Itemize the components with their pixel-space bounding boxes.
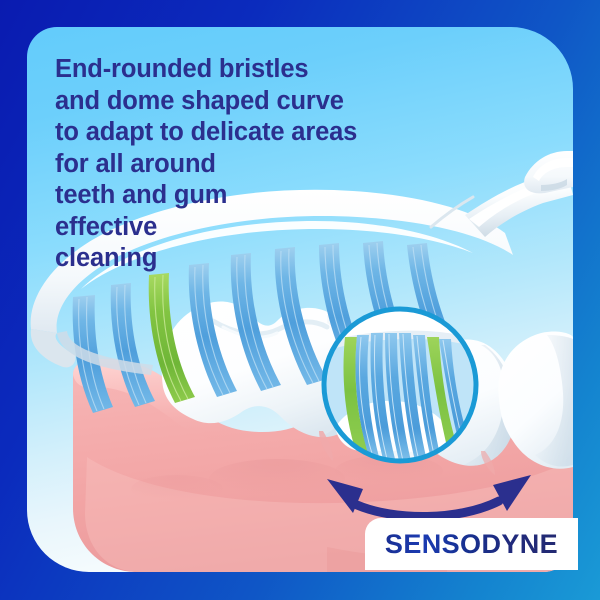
page-title: End-rounded bristles and dome shaped cur… <box>55 54 475 275</box>
content-panel: End-rounded bristles and dome shaped cur… <box>27 27 573 572</box>
brand-plate: SENSODYNE <box>365 518 578 570</box>
sensodyne-wordmark: SENSODYNE <box>385 529 558 560</box>
sensodyne-promo-image: End-rounded bristles and dome shaped cur… <box>0 0 600 600</box>
